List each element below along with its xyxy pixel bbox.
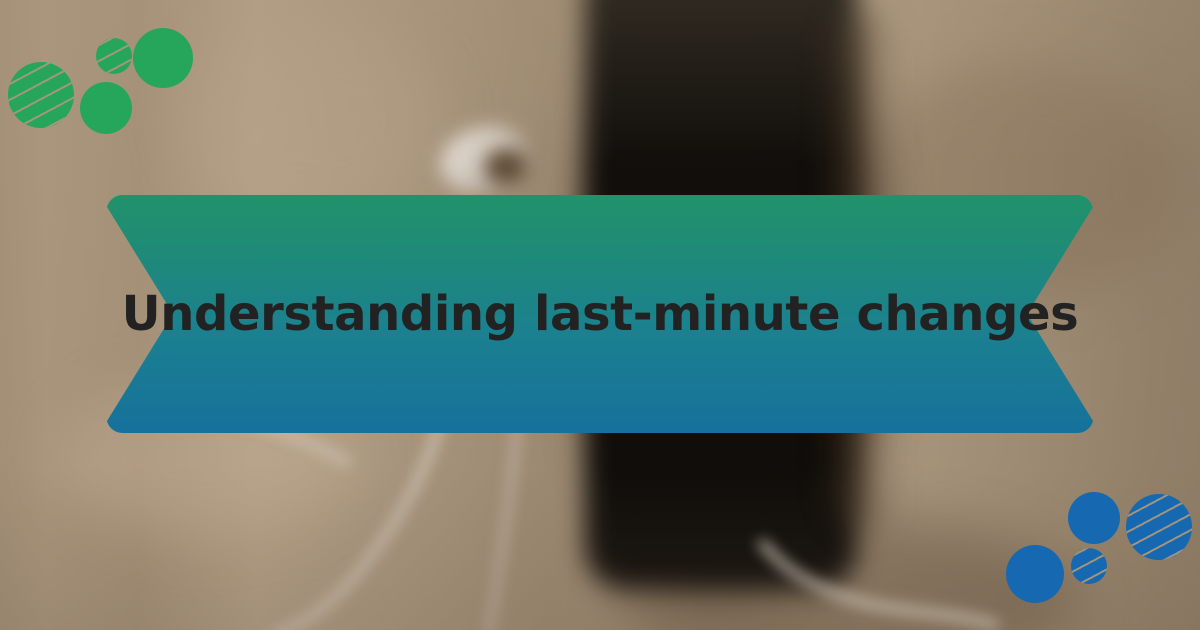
- social-card: Understanding last-minute changes: [0, 0, 1200, 630]
- green-circle-striped-large: [8, 62, 74, 128]
- blue-circle-plain-medium: [1006, 545, 1064, 603]
- blue-circle-striped-small: [1071, 548, 1107, 584]
- green-circle-plain-large: [133, 28, 193, 88]
- green-circle-striped-small: [96, 38, 132, 74]
- blue-circle-plain-large: [1068, 492, 1120, 544]
- green-circle-plain-medium: [80, 82, 132, 134]
- blue-circle-striped-large: [1126, 494, 1192, 560]
- title-ribbon: [107, 195, 1093, 433]
